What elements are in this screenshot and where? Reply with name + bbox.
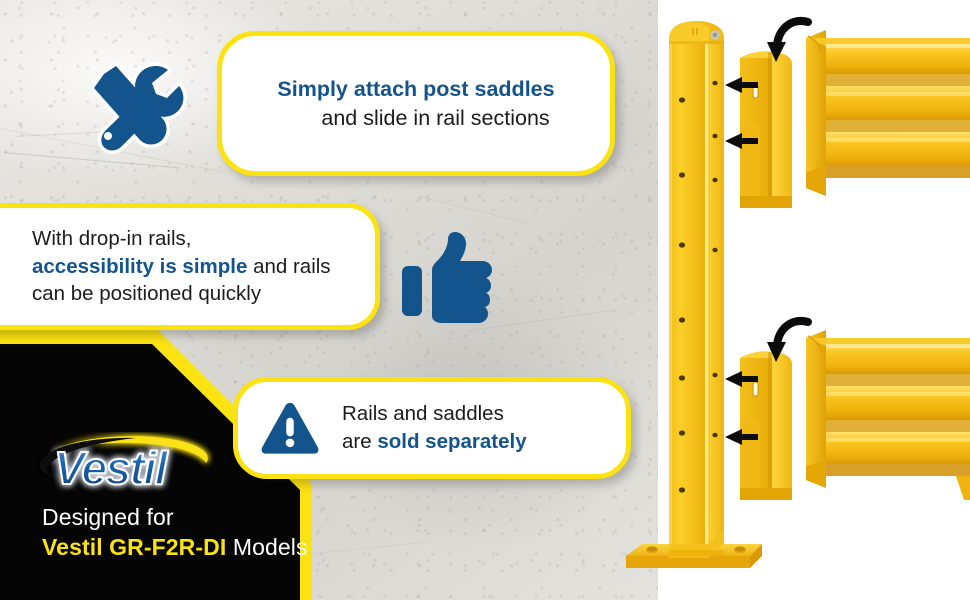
callout-3-line-2: are sold separately	[342, 428, 527, 456]
product-photo	[612, 0, 970, 600]
callout-3-line-1: Rails and saddles	[342, 400, 527, 428]
model-label: Vestil GR-F2R-DI Models	[42, 533, 372, 561]
model-suffix: Models	[226, 534, 307, 560]
upper-saddle-bracket	[740, 51, 792, 208]
callout-2-line-2-tail: and rails	[247, 255, 330, 278]
callout-2-line-1: With drop-in rails,	[32, 225, 331, 253]
lower-guard-rail-section	[806, 330, 970, 500]
svg-text:Vestil: Vestil	[54, 442, 169, 494]
tools-wrench-screwdriver-icon	[84, 56, 188, 154]
model-name: Vestil GR-F2R-DI	[42, 534, 226, 560]
callout-accessibility: With drop-in rails, accessibility is sim…	[0, 203, 380, 330]
lower-saddle-bracket	[740, 351, 792, 500]
callout-2-line-3: can be positioned quickly	[32, 280, 331, 308]
thumbs-up-icon	[398, 232, 494, 324]
brand-tagline: Designed for Vestil GR-F2R-DI Models	[42, 503, 372, 561]
callout-2-emphasis: accessibility is simple	[32, 255, 247, 278]
callout-attach-saddles: Simply attach post saddles and slide in …	[217, 31, 615, 176]
vestil-logo: Vestil	[36, 432, 218, 494]
warning-triangle-exclamation-icon	[238, 401, 342, 455]
callout-sold-separately: Rails and saddles are sold separately	[233, 377, 631, 479]
callout-3-line-2-head: are	[342, 430, 377, 453]
callout-1-line-2: and slide in rail sections	[321, 104, 554, 133]
designed-for-label: Designed for	[42, 503, 372, 531]
callout-2-line-2: accessibility is simple and rails	[32, 253, 331, 281]
infographic-canvas: Vestil Designed for Vestil GR-F2R-DI Mod…	[0, 0, 970, 600]
callout-1-line-1: Simply attach post saddles	[277, 75, 554, 104]
upper-guard-rail-section	[806, 30, 970, 196]
callout-3-emphasis: sold separately	[377, 430, 526, 453]
